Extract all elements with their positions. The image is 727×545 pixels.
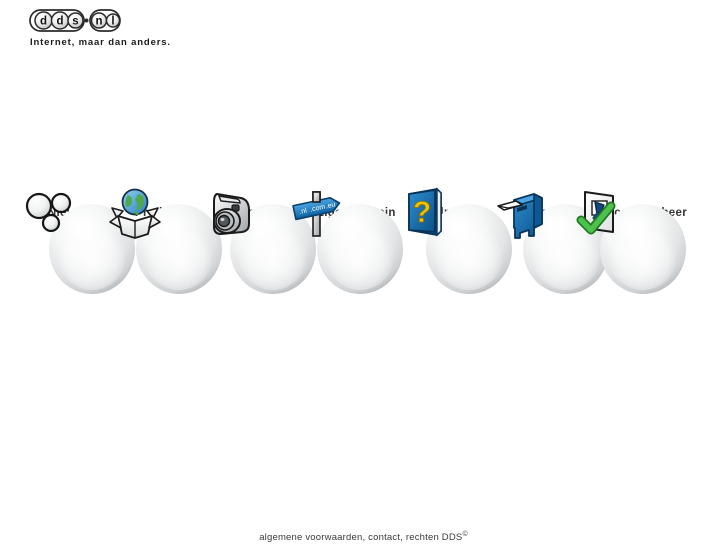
bubbles-icon: [20, 184, 76, 240]
mailbox-icon: [494, 184, 550, 240]
dds-nl-logo-icon: d d s n l: [29, 8, 121, 33]
footer: algemene voorwaarden, contact, rechten D…: [0, 527, 727, 545]
nav-item-producten[interactable]: Producten: [117, 203, 213, 221]
site-tagline: Internet, maar dan anders.: [30, 37, 289, 48]
nav-item-accountbeheer[interactable]: Accountbeheer: [595, 203, 691, 221]
svg-text:s: s: [72, 16, 78, 28]
form-check-icon: [571, 184, 627, 240]
nav-item-nieuws[interactable]: Nieuws: [21, 203, 117, 221]
svg-text:l: l: [111, 16, 114, 28]
footer-label: algemene voorwaarden, contact, rechten D…: [259, 532, 462, 543]
svg-text:n: n: [95, 16, 102, 28]
main-nav-row: Nieuws: [0, 203, 727, 328]
question-book-icon: ?: [397, 184, 453, 240]
globe-box-icon: [107, 184, 163, 240]
copyright-symbol: ©: [462, 531, 467, 538]
site-logo-block: d d s n l Internet, maar dan anders.: [29, 8, 289, 48]
svg-text:d: d: [56, 16, 63, 28]
nav-item-helpdesk[interactable]: ? Helpdesk: [404, 203, 500, 221]
svg-text:?: ?: [413, 196, 431, 229]
signpost-icon: .nl .com .eu: [288, 184, 344, 240]
camera-icon: [201, 184, 257, 240]
page-root: { "site": { "logo": { "letters": ["d", "…: [0, 0, 727, 545]
svg-text:d: d: [40, 16, 47, 28]
nav-item-eigen-domein[interactable]: .nl .com .eu Eigen domein: [308, 203, 404, 221]
footer-links[interactable]: algemene voorwaarden, contact, rechten D…: [259, 532, 468, 543]
